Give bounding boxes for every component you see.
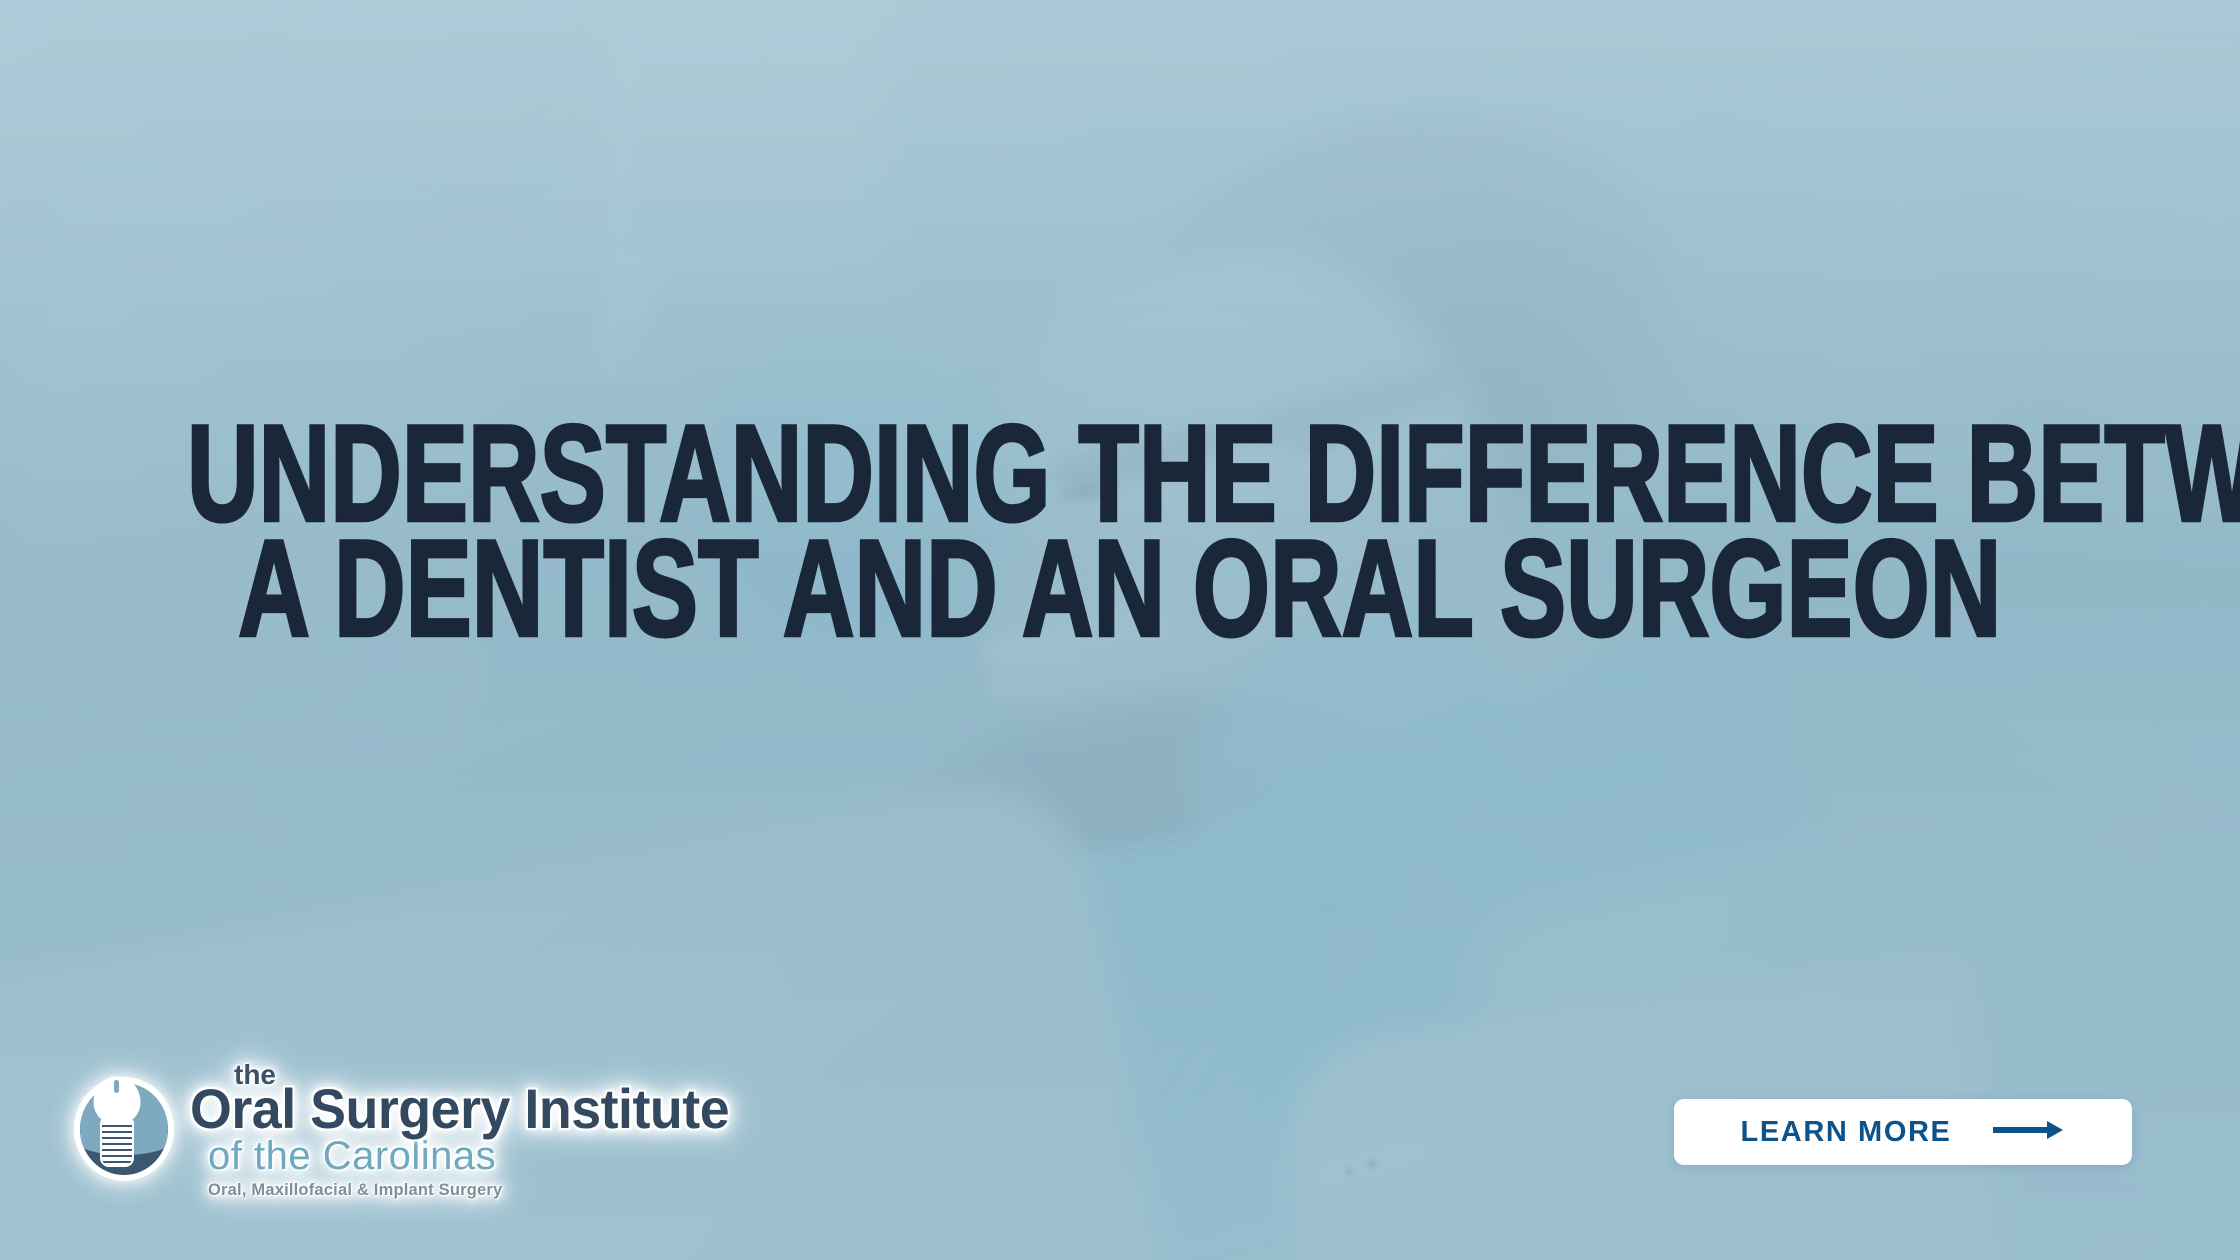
brand-logo-text: the Oral Surgery Institute of the Caroli… (190, 1059, 752, 1198)
dental-implant-emblem-icon (72, 1071, 176, 1187)
learn-more-button[interactable]: LEARN MORE (1674, 1099, 2132, 1165)
logo-name: Oral Surgery Institute (190, 1083, 729, 1135)
emblem-implant-screw (102, 1121, 132, 1165)
learn-more-label: LEARN MORE (1741, 1116, 1952, 1149)
logo-tagline: Oral, Maxillofacial & Implant Surgery (208, 1182, 752, 1199)
page-title: Understanding the Difference Between A D… (0, 408, 2240, 631)
logo-region: of the Carolinas (208, 1136, 752, 1176)
brand-logo[interactable]: the Oral Surgery Institute of the Caroli… (72, 1059, 752, 1198)
arrow-right-icon (1991, 1119, 2065, 1146)
hero-banner: Understanding the Difference Between A D… (0, 0, 2240, 1260)
headline-line-2: A Dentist and an Oral Surgeon (187, 523, 2053, 656)
